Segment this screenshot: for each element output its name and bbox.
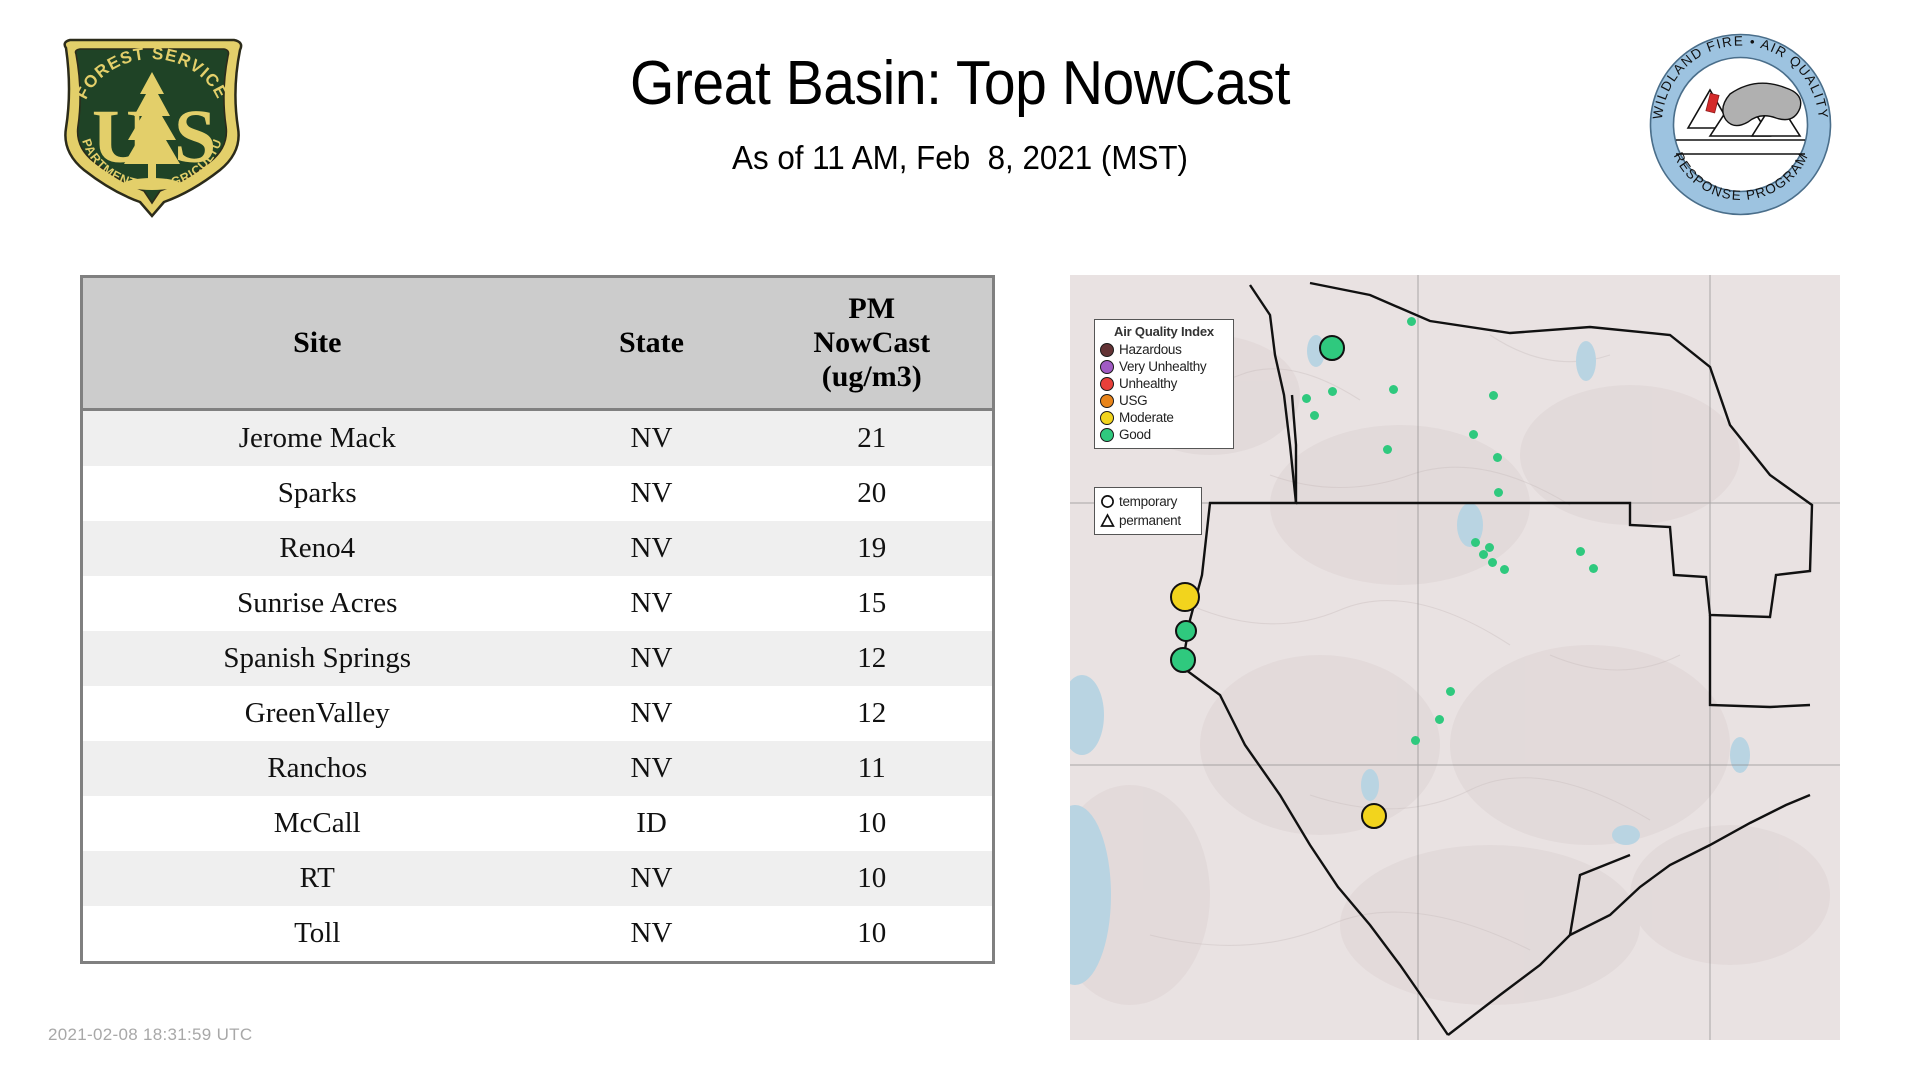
legend-item-temporary: temporary — [1100, 492, 1196, 511]
map-dot-good[interactable] — [1485, 543, 1494, 552]
table-row: GreenValleyNV12 — [82, 686, 994, 741]
value-cell: 20 — [752, 466, 994, 521]
value-cell: 12 — [752, 631, 994, 686]
table-row: RanchosNV11 — [82, 741, 994, 796]
value-cell: 10 — [752, 796, 994, 851]
wildland-fire-air-quality-seal-logo: WILDLAND FIRE • AIR QUALITY RESPONSE PRO… — [1648, 32, 1833, 217]
map-dot-good[interactable] — [1435, 715, 1444, 724]
page-header: FOREST SERVICE U S DEPARTMENT OF AGRICUL… — [0, 0, 1920, 225]
air-quality-index-legend: Air Quality Index HazardousVery Unhealth… — [1094, 319, 1234, 449]
map-dot-good[interactable] — [1493, 453, 1502, 462]
map-dot-good[interactable] — [1411, 736, 1420, 745]
map-dot-good[interactable] — [1471, 538, 1480, 547]
site-cell: GreenValley — [82, 686, 552, 741]
column-header-site: Site — [82, 277, 552, 410]
page-subtitle-timestamp: As of 11 AM, Feb 8, 2021 (MST) — [314, 138, 1606, 178]
marker-reno-good[interactable] — [1175, 620, 1197, 642]
legend-label-permanent: permanent — [1119, 513, 1181, 528]
map-dot-good[interactable] — [1469, 430, 1478, 439]
map-dot-good[interactable] — [1500, 565, 1509, 574]
map-dot-good[interactable] — [1302, 394, 1311, 403]
site-cell: Sunrise Acres — [82, 576, 552, 631]
site-cell: McCall — [82, 796, 552, 851]
site-cell: Spanish Springs — [82, 631, 552, 686]
great-basin-aqi-map[interactable]: Air Quality Index HazardousVery Unhealth… — [1070, 275, 1840, 1040]
state-cell: ID — [552, 796, 752, 851]
legend-item-usg: USG — [1100, 392, 1228, 409]
legend-item-moderate: Moderate — [1100, 409, 1228, 426]
state-cell: NV — [552, 851, 752, 906]
map-dot-good[interactable] — [1488, 558, 1497, 567]
value-cell: 21 — [752, 410, 994, 467]
legend-label: Moderate — [1119, 410, 1174, 425]
map-dot-good[interactable] — [1489, 391, 1498, 400]
title-block: Great Basin: Top NowCast As of 11 AM, Fe… — [280, 48, 1640, 178]
legend-label: USG — [1119, 393, 1147, 408]
table-row: Jerome MackNV21 — [82, 410, 994, 467]
circle-icon — [1100, 493, 1115, 510]
value-cell: 11 — [752, 741, 994, 796]
marker-vegas-moderate[interactable] — [1361, 803, 1387, 829]
state-cell: NV — [552, 631, 752, 686]
state-cell: NV — [552, 410, 752, 467]
table-header-row: Site State PM NowCast (ug/m3) — [82, 277, 994, 410]
legend-label: Hazardous — [1119, 342, 1182, 357]
legend-swatch-icon — [1100, 343, 1114, 357]
table-row: Reno4NV19 — [82, 521, 994, 576]
marker-reno-moderate[interactable] — [1170, 582, 1200, 612]
value-cell: 10 — [752, 851, 994, 906]
legend-label: Good — [1119, 427, 1151, 442]
column-header-pm-nowcast: PM NowCast (ug/m3) — [752, 277, 994, 410]
table-row: Sunrise AcresNV15 — [82, 576, 994, 631]
state-cell: NV — [552, 521, 752, 576]
map-dot-good[interactable] — [1389, 385, 1398, 394]
map-dot-good[interactable] — [1494, 488, 1503, 497]
legend-item-hazardous: Hazardous — [1100, 341, 1228, 358]
footer-timestamp: 2021-02-08 18:31:59 UTC — [48, 1025, 252, 1045]
page-title: Great Basin: Top NowCast — [334, 48, 1585, 120]
marker-ranchos-good[interactable] — [1170, 647, 1196, 673]
legend-item-good: Good — [1100, 426, 1228, 443]
map-dot-good[interactable] — [1446, 687, 1455, 696]
site-cell: Ranchos — [82, 741, 552, 796]
state-cell: NV — [552, 576, 752, 631]
triangle-icon — [1100, 512, 1115, 529]
state-cell: NV — [552, 686, 752, 741]
site-cell: Reno4 — [82, 521, 552, 576]
value-cell: 12 — [752, 686, 994, 741]
site-cell: Sparks — [82, 466, 552, 521]
legend-swatch-icon — [1100, 360, 1114, 374]
legend-label: Unhealthy — [1119, 376, 1177, 391]
site-cell: Toll — [82, 906, 552, 963]
table-row: Spanish SpringsNV12 — [82, 631, 994, 686]
table-row: TollNV10 — [82, 906, 994, 963]
map-dot-good[interactable] — [1328, 387, 1337, 396]
legend-swatch-icon — [1100, 377, 1114, 391]
legend-label: Very Unhealthy — [1119, 359, 1206, 374]
table-row: SparksNV20 — [82, 466, 994, 521]
legend-swatch-icon — [1100, 394, 1114, 408]
legend-item-unhealthy: Unhealthy — [1100, 375, 1228, 392]
column-header-state: State — [552, 277, 752, 410]
map-dot-good[interactable] — [1407, 317, 1416, 326]
value-cell: 10 — [752, 906, 994, 963]
site-cell: RT — [82, 851, 552, 906]
map-dot-good[interactable] — [1576, 547, 1585, 556]
legend-label-temporary: temporary — [1119, 494, 1177, 509]
nowcast-table: Site State PM NowCast (ug/m3) Jerome Mac… — [80, 275, 995, 964]
legend-item-permanent: permanent — [1100, 511, 1196, 530]
legend-swatch-icon — [1100, 411, 1114, 425]
site-type-legend: temporary permanent — [1094, 487, 1202, 535]
value-cell: 15 — [752, 576, 994, 631]
us-forest-service-shield-logo: FOREST SERVICE U S DEPARTMENT OF AGRICUL… — [52, 30, 252, 220]
marker-mccall[interactable] — [1319, 335, 1345, 361]
legend-title: Air Quality Index — [1100, 324, 1228, 339]
legend-item-very-unhealthy: Very Unhealthy — [1100, 358, 1228, 375]
nowcast-table-panel: Site State PM NowCast (ug/m3) Jerome Mac… — [80, 275, 992, 964]
table-row: McCallID10 — [82, 796, 994, 851]
state-cell: NV — [552, 466, 752, 521]
map-dot-good[interactable] — [1310, 411, 1319, 420]
state-cell: NV — [552, 741, 752, 796]
map-dot-good[interactable] — [1383, 445, 1392, 454]
legend-swatch-icon — [1100, 428, 1114, 442]
table-row: RTNV10 — [82, 851, 994, 906]
state-cell: NV — [552, 906, 752, 963]
site-cell: Jerome Mack — [82, 410, 552, 467]
value-cell: 19 — [752, 521, 994, 576]
map-dot-good[interactable] — [1589, 564, 1598, 573]
table-body: Jerome MackNV21SparksNV20Reno4NV19Sunris… — [82, 410, 994, 963]
